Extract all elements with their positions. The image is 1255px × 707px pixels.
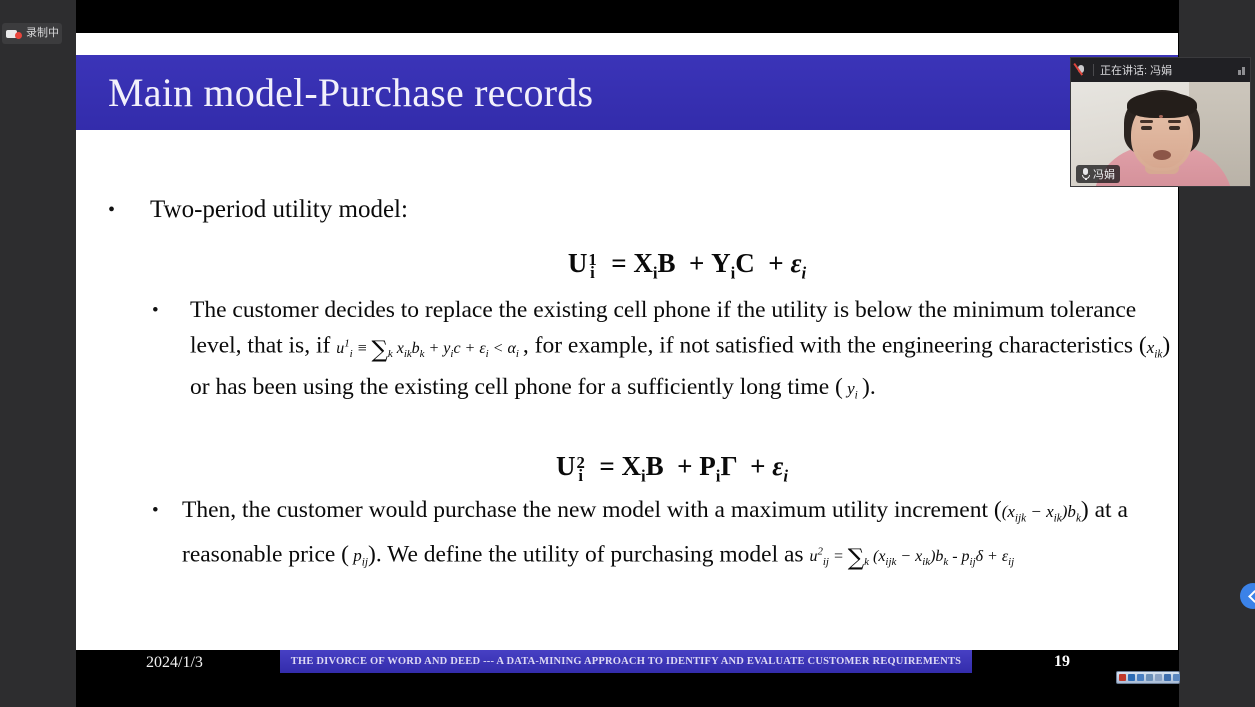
- slide-title-band: Main model-Purchase records: [76, 55, 1178, 130]
- bullet-2a-segment-4: ).: [862, 374, 876, 400]
- speaking-label: 正在讲话: 冯娟: [1100, 62, 1232, 78]
- slide-body: • Two-period utility model: U1i = XiB + …: [76, 133, 1178, 638]
- bullet-level2-a-text: The customer decides to replace the exis…: [190, 294, 1172, 413]
- microphone-icon: [1081, 168, 1090, 180]
- bullet-marker-icon: •: [108, 195, 150, 225]
- bullet-2a-segment-2: , for example, if not satisfied with the…: [523, 333, 1147, 359]
- display-equation-2: U2i = XiB + PiΓ + εi: [76, 451, 1178, 486]
- footer-banner-text: THE DIVORCE OF WORD AND DEED --- A DATA-…: [291, 656, 961, 667]
- participant-eye-right: [1169, 126, 1180, 130]
- bullet-2b-segment-1: Then, the customer would purchase the ne…: [182, 497, 1002, 523]
- presentation-slide[interactable]: Main model-Purchase records • Two-period…: [76, 33, 1178, 650]
- participant-mouth: [1153, 150, 1171, 160]
- participant-fringe: [1127, 92, 1197, 118]
- participant-brow-left: [1140, 120, 1153, 123]
- inline-symbol-xik: xik: [1147, 338, 1163, 357]
- footer-page-number: 19: [1054, 653, 1070, 671]
- participant-brow-right: [1168, 120, 1181, 123]
- participant-face-mark: [1159, 115, 1163, 118]
- chevron-left-icon: [1248, 590, 1255, 603]
- slide-footer: 2024/1/3 THE DIVORCE OF WORD AND DEED --…: [76, 650, 1179, 678]
- bullet-level1-text: Two-period utility model:: [150, 195, 1108, 225]
- recording-indicator[interactable]: 录制中: [2, 23, 62, 44]
- inline-formula-increment: (xijk − xik)bk: [1002, 502, 1081, 521]
- bullet-marker-icon: •: [152, 494, 182, 527]
- footer-date: 2024/1/3: [146, 654, 203, 672]
- bullet-level1: • Two-period utility model:: [108, 195, 1108, 225]
- presenter-toolbar-icon[interactable]: [1116, 671, 1180, 684]
- webcam-video-feed[interactable]: 冯娟: [1071, 82, 1251, 187]
- record-camera-icon: [6, 28, 22, 40]
- mic-muted-icon[interactable]: [1076, 64, 1087, 77]
- inline-formula-u1: u1i ≡ ∑k xikbk + yic + εi < αi: [336, 340, 523, 357]
- bullet-level2-b-text: Then, the customer would purchase the ne…: [182, 494, 1172, 580]
- participant-name-tag: 冯娟: [1076, 165, 1120, 183]
- meeting-app-shell: 录制中 Main model-Purchase records • Two-pe…: [0, 0, 1255, 707]
- inline-symbol-yi: yi: [843, 379, 862, 398]
- inline-symbol-pij: pij: [349, 546, 368, 565]
- footer-banner: THE DIVORCE OF WORD AND DEED --- A DATA-…: [280, 650, 972, 673]
- recording-label: 录制中: [26, 28, 59, 39]
- collapse-panel-button[interactable]: [1240, 583, 1255, 609]
- inline-formula-u2: u2ij = ∑k (xijk − xik)bk - pijδ + εij: [809, 548, 1014, 565]
- signal-bars-icon: [1238, 65, 1245, 75]
- slide-title: Main model-Purchase records: [76, 71, 593, 115]
- bullet-2b-segment-3: ). We define the utility of purchasing m…: [368, 541, 804, 567]
- header-divider: [1093, 64, 1094, 76]
- video-panel-header: 正在讲话: 冯娟: [1071, 58, 1250, 82]
- bullet-level2-a: • The customer decides to replace the ex…: [152, 294, 1172, 413]
- participant-video-panel[interactable]: 正在讲话: 冯娟: [1070, 57, 1251, 187]
- bullet-marker-icon: •: [152, 294, 190, 327]
- participant-name: 冯娟: [1093, 166, 1115, 182]
- bullet-level2-b: • Then, the customer would purchase the …: [152, 494, 1172, 580]
- participant-eye-left: [1141, 126, 1152, 130]
- display-equation-1: U1i = XiB + YiC + εi: [76, 248, 1178, 283]
